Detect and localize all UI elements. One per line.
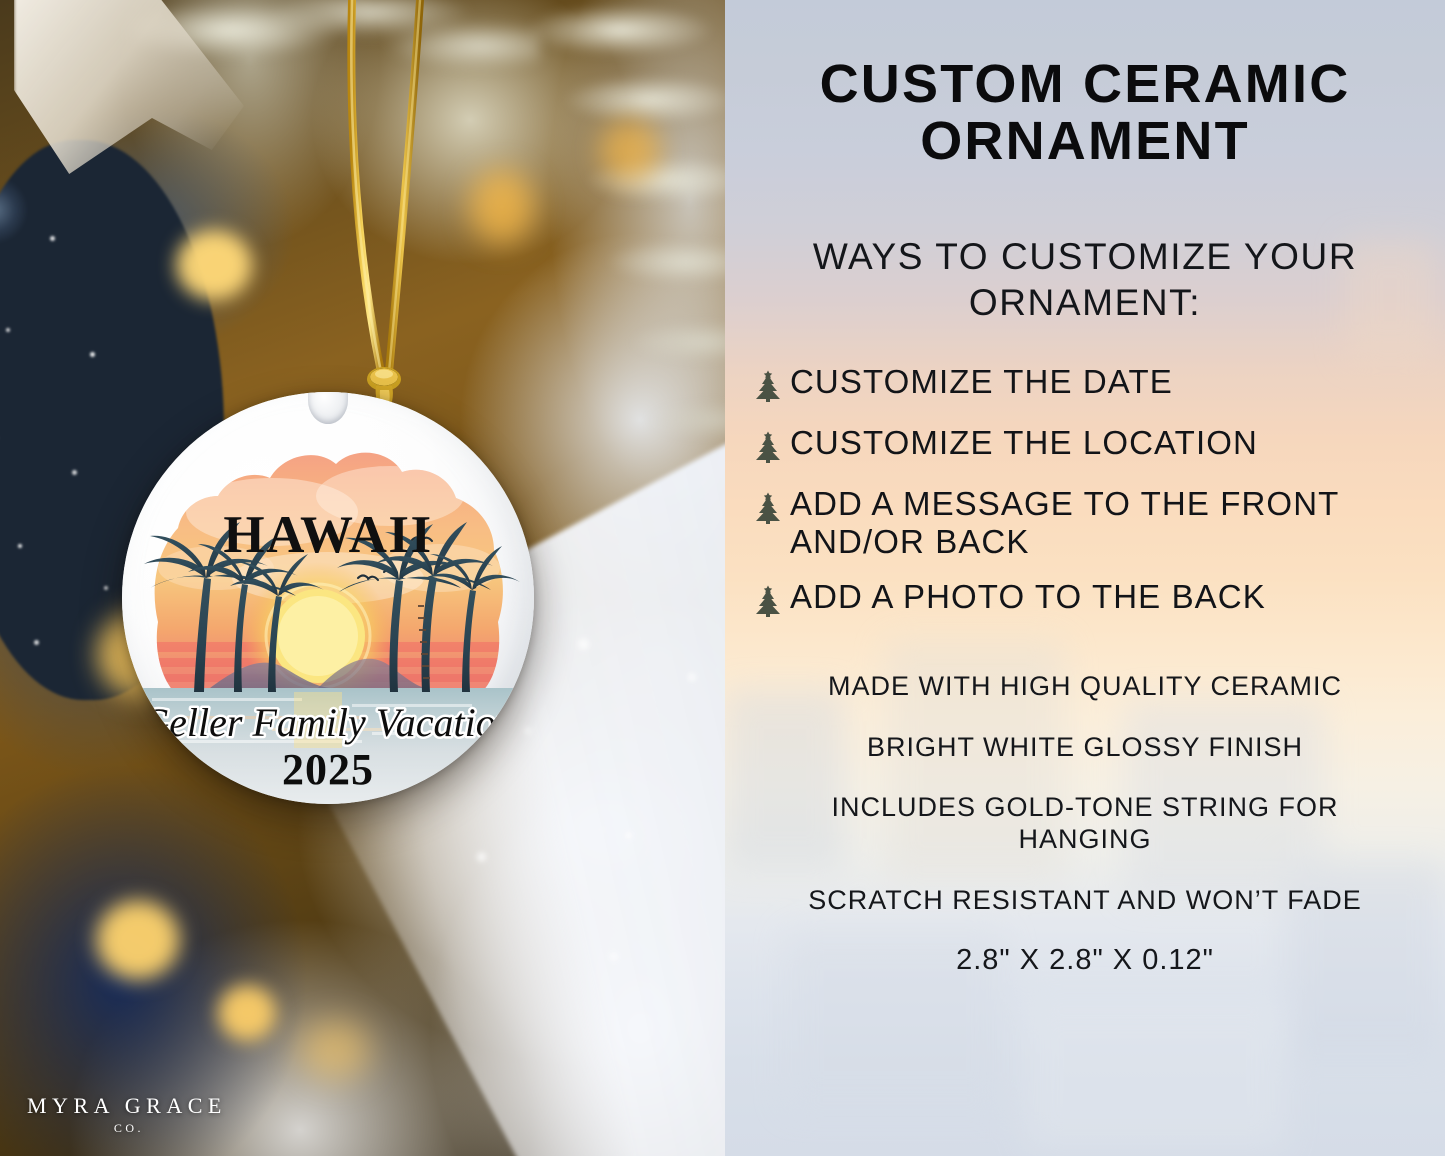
ornament-message-text: Geller Family Vacation	[140, 700, 515, 745]
bokeh-light	[96, 900, 180, 980]
customize-subheading: WAYS TO CUSTOMIZE YOUR ORNAMENT:	[741, 234, 1429, 324]
bokeh-light	[300, 1020, 370, 1080]
list-item-label: ADD A MESSAGE TO THE FRONT AND/OR BACK	[790, 485, 1429, 562]
feature-text: SCRATCH RESISTANT AND WON’T FADE	[741, 884, 1429, 916]
christmas-tree-icon	[755, 492, 781, 529]
brand-logo: MYRA GRACE CO.	[27, 1094, 227, 1136]
product-features-list: MADE WITH HIGH QUALITY CERAMIC BRIGHT WH…	[741, 670, 1429, 977]
ornament-artwork: HAWAII Geller Family Vacation 2025	[122, 392, 534, 804]
list-item-label: CUSTOMIZE THE DATE	[790, 363, 1173, 401]
product-listing-image: HAWAII Geller Family Vacation 2025 MYRA …	[0, 0, 1445, 1156]
christmas-tree-icon	[755, 370, 781, 407]
info-panel: CUSTOM CERAMIC ORNAMENT WAYS TO CUSTOMIZ…	[725, 0, 1445, 1156]
list-item: ADD A MESSAGE TO THE FRONT AND/OR BACK	[755, 485, 1429, 562]
brand-suffix: CO.	[27, 1121, 227, 1136]
brand-name: MYRA GRACE	[27, 1094, 227, 1118]
product-dimensions: 2.8" X 2.8" X 0.12"	[741, 944, 1429, 977]
feature-text: MADE WITH HIGH QUALITY CERAMIC	[741, 670, 1429, 702]
lifestyle-photo-panel: HAWAII Geller Family Vacation 2025 MYRA …	[0, 0, 725, 1156]
christmas-tree-icon	[755, 431, 781, 468]
list-item: CUSTOMIZE THE LOCATION	[755, 424, 1429, 468]
list-item-label: ADD A PHOTO TO THE BACK	[790, 578, 1266, 616]
feature-text: INCLUDES GOLD-TONE STRING FOR HANGING	[741, 791, 1429, 856]
ceramic-ornament[interactable]: HAWAII Geller Family Vacation 2025	[122, 392, 534, 804]
list-item: CUSTOMIZE THE DATE	[755, 363, 1429, 407]
list-item-label: CUSTOMIZE THE LOCATION	[790, 424, 1258, 462]
christmas-tree-icon	[755, 585, 781, 622]
bokeh-light	[218, 985, 276, 1041]
ornament-location-text: HAWAII	[223, 506, 432, 564]
ornament-year-text: 2025	[282, 745, 374, 794]
feature-text: BRIGHT WHITE GLOSSY FINISH	[741, 731, 1429, 763]
customization-list: CUSTOMIZE THE DATE CUSTOMIZE THE LOCATIO…	[741, 363, 1429, 623]
list-item: ADD A PHOTO TO THE BACK	[755, 578, 1429, 622]
page-title: CUSTOM CERAMIC ORNAMENT	[741, 56, 1429, 170]
